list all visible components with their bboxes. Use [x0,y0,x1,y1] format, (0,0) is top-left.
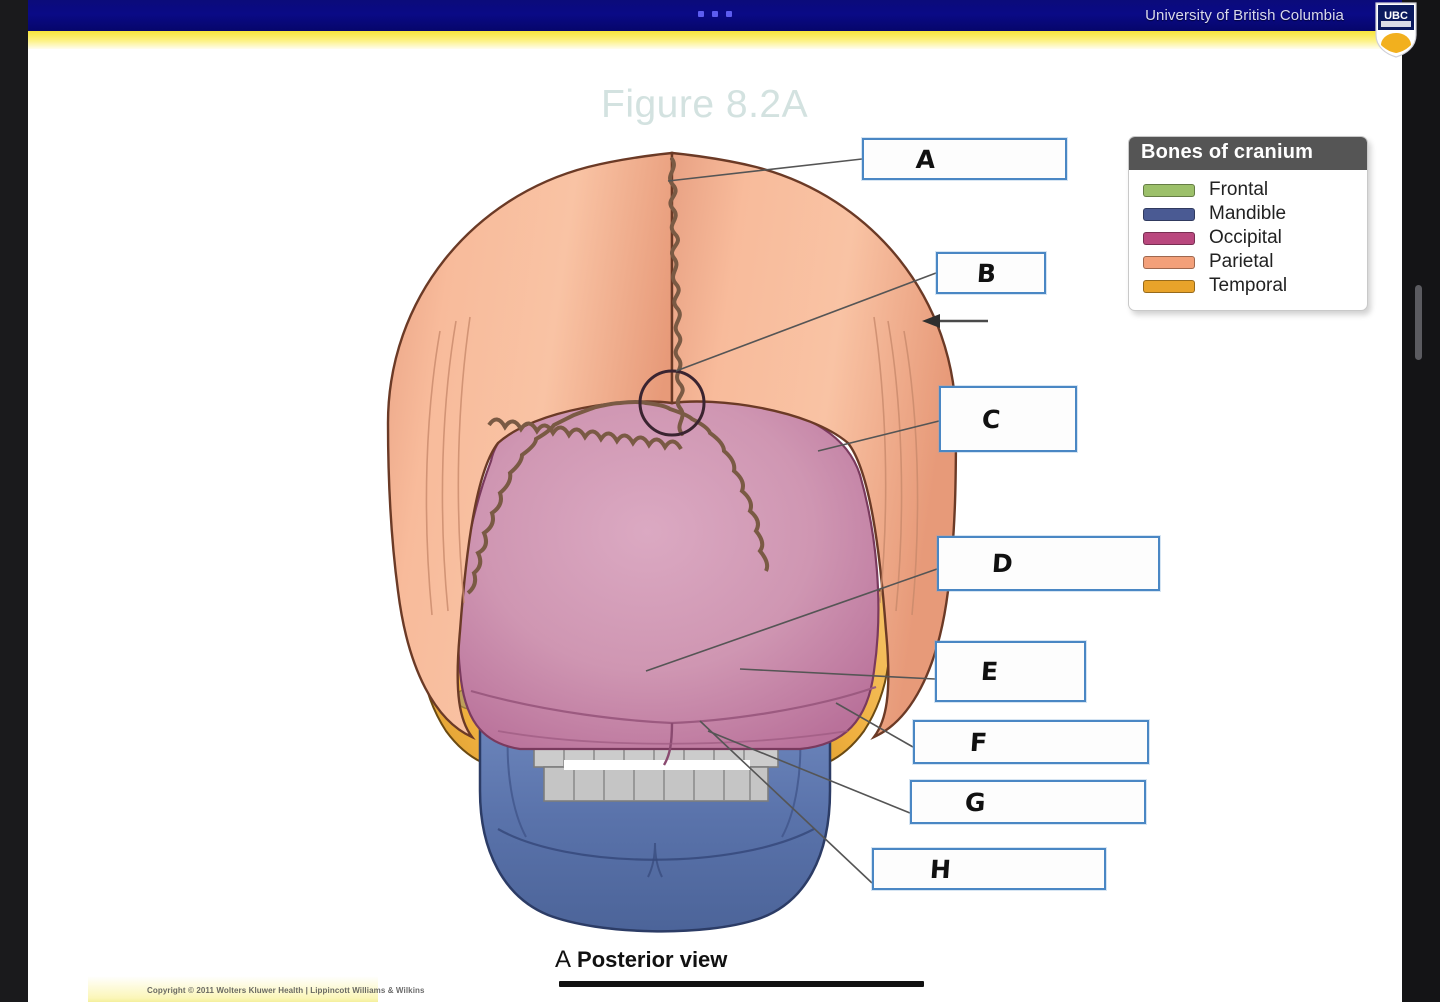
legend-label-parietal: Parietal [1209,251,1273,273]
legend-label-mandible: Mandible [1209,203,1286,225]
answer-box-g[interactable]: G [910,780,1146,824]
legend-label-frontal: Frontal [1209,179,1268,201]
answer-box-h[interactable]: H [872,848,1106,890]
vertical-scrollbar-thumb[interactable] [1415,285,1422,360]
answer-box-c[interactable]: C [939,386,1077,452]
legend-swatch-parietal [1143,256,1195,269]
legend-item-parietal: Parietal [1129,250,1367,274]
answer-box-f[interactable]: F [913,720,1149,764]
answer-letter-h: H [929,855,953,884]
legend-title: Bones of cranium [1129,137,1367,170]
answer-letter-g: G [964,788,988,817]
answer-letter-b: B [976,259,998,288]
answer-letter-a: A [915,145,937,174]
legend-panel: Bones of cranium Frontal Mandible Occipi… [1128,136,1368,311]
copyright-notice: Copyright © 2011 Wolters Kluwer Health |… [147,986,425,995]
university-title: University of British Columbia [1145,7,1344,24]
caption-glyph: A [555,946,571,973]
caption-underline-rule [559,981,924,987]
legend-items: Frontal Mandible Occipital Parietal Temp… [1129,170,1367,310]
screen-root: University of British Columbia UBC Figur… [0,0,1440,1002]
ubc-shield-logo: UBC [1374,2,1418,58]
answer-box-d[interactable]: D [937,536,1160,591]
answer-box-a[interactable]: A [862,138,1067,180]
legend-swatch-occipital [1143,232,1195,245]
figure-caption: APosterior view [555,946,727,974]
answer-letter-e: E [980,657,1000,686]
answer-box-b[interactable]: B [936,252,1046,294]
legend-swatch-frontal [1143,184,1195,197]
legend-swatch-temporal [1143,280,1195,293]
app-header-bar: University of British Columbia [28,0,1402,31]
caption-text: Posterior view [577,947,727,972]
legend-item-mandible: Mandible [1129,202,1367,226]
legend-label-temporal: Temporal [1209,275,1287,297]
answer-letter-d: D [991,549,1015,578]
overflow-menu-dots-icon[interactable] [698,11,732,17]
legend-item-frontal: Frontal [1129,178,1367,202]
slide-page: Figure 8.2A [28,31,1402,1002]
legend-item-occipital: Occipital [1129,226,1367,250]
svg-text:UBC: UBC [1384,10,1408,22]
legend-label-occipital: Occipital [1209,227,1282,249]
legend-swatch-mandible [1143,208,1195,221]
answer-letter-c: C [981,405,1002,434]
occipital-bone [458,399,878,749]
answer-letter-f: F [969,728,989,757]
right-gutter [1396,0,1440,1002]
answer-box-e[interactable]: E [935,641,1086,702]
legend-item-temporal: Temporal [1129,274,1367,298]
